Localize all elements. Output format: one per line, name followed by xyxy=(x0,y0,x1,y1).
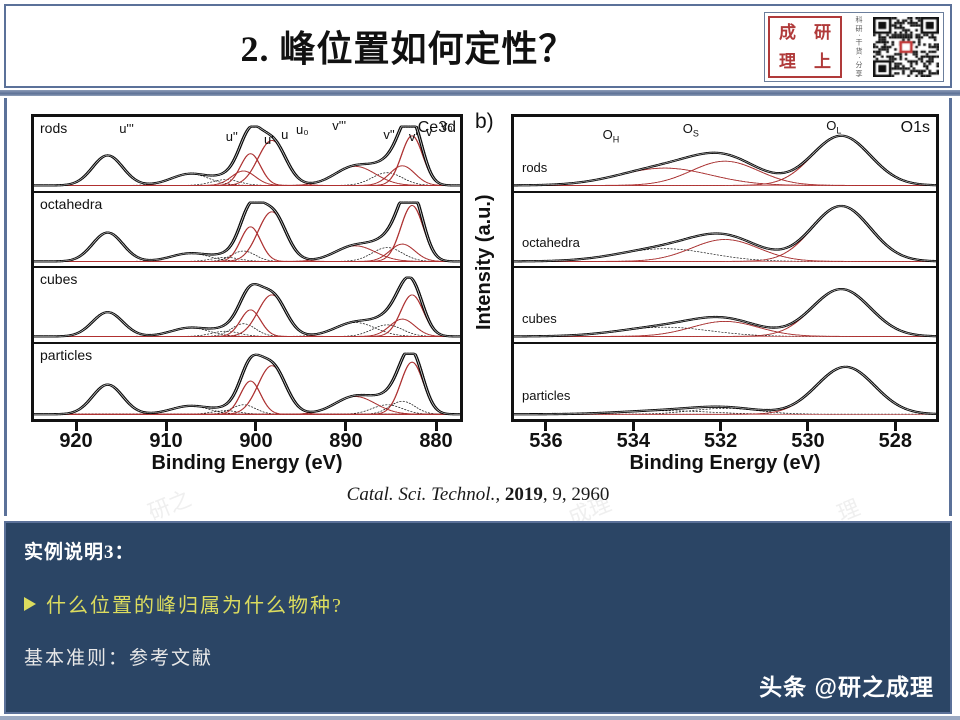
spectrum-subpanel: rodsu'''u''u'uu₀v'''v''v'vv₀ xyxy=(34,117,460,193)
peak-label: OH xyxy=(603,127,620,145)
spectrum-sample-label: octahedra xyxy=(40,196,102,212)
axis-tick-label: 530 xyxy=(791,430,824,453)
seal-char-2: 研 xyxy=(805,18,840,47)
axis-tick-label: 920 xyxy=(59,430,92,453)
notes-bullet-line: 什么位置的峰归属为什么物种? xyxy=(24,589,343,618)
spectrum-component-curve xyxy=(34,244,460,261)
notes-heading: 实例说明3： xyxy=(24,537,135,564)
axis-tick-label: 532 xyxy=(704,430,737,453)
panel-o1s-plotbox: O1s rodsOHOSOLoctahedracubesparticles xyxy=(511,114,939,422)
spectrum-fit-curve xyxy=(34,226,460,261)
spectrum-component-curve xyxy=(514,289,936,336)
panel-o1s-letter: b) xyxy=(475,110,494,134)
footer-strip xyxy=(0,716,960,720)
peak-label: u' xyxy=(264,132,274,147)
panel-ce3d-corner-tag: Ce3d xyxy=(418,119,456,137)
notes-panel: 实例说明3： 什么位置的峰归属为什么物种? 基本准则：参考文献 头条 @研之成理 xyxy=(4,521,952,714)
brand-stamp-qr: 成 研 理 上 科研·干货·分享 xyxy=(764,12,944,82)
panel-ce3d-plotbox: Ce3d rodsu'''u''u'uu₀v'''v''v'vv₀octahed… xyxy=(31,114,463,422)
spectrum-fit-curve xyxy=(514,289,936,336)
axis-tick-label: 890 xyxy=(329,430,362,453)
peak-label: u₀ xyxy=(296,122,309,137)
panel-ce3d-xaxis: 920910900890880 xyxy=(31,422,463,456)
spectrum-sample-label: cubes xyxy=(522,311,557,326)
panel-o1s: b) Intensity (a.u.) O1s rodsOHOSOLoctahe… xyxy=(475,102,939,480)
panel-o1s-xaxis: 536534532530528 xyxy=(511,422,939,456)
brand-side-text: 科研·干货·分享 xyxy=(845,13,873,81)
axis-tick-label: 900 xyxy=(239,430,272,453)
peak-label: u''' xyxy=(119,121,134,136)
slide-root: 2. 峰位置如何定性？ 成 研 理 上 科研·干货·分享 研之 成理 理 Ce3… xyxy=(0,0,960,720)
peak-label: v''' xyxy=(332,118,346,133)
spectrum-sample-label: particles xyxy=(40,347,92,363)
notes-subtext: 基本准则：参考文献 xyxy=(24,643,213,670)
citation-year: 2019 xyxy=(505,484,543,505)
axis-tick-label: 880 xyxy=(419,430,452,453)
spectrum-subpanel: octahedra xyxy=(514,193,936,269)
peak-label: v'' xyxy=(383,127,394,142)
spectrum-component-curve xyxy=(34,404,460,413)
spectrum-subpanel: rodsOHOSOL xyxy=(514,117,936,193)
citation-rest: , 9, 2960 xyxy=(543,484,610,505)
spectrum-data-points xyxy=(514,366,936,413)
panel-o1s-ytitle: Intensity (a.u.) xyxy=(473,142,496,382)
peak-label: OS xyxy=(683,121,699,139)
spectrum-subpanel: cubes xyxy=(514,268,936,344)
panel-ce3d: Ce3d rodsu'''u''u'uu₀v'''v''v'vv₀octahed… xyxy=(23,102,463,480)
spectrum-subpanel: cubes xyxy=(34,268,460,344)
figure-citation: Catal. Sci. Technol., 2019, 9, 2960 xyxy=(7,484,949,506)
citation-journal: Catal. Sci. Technol., xyxy=(347,484,500,505)
notes-bullet-text: 什么位置的峰归属为什么物种? xyxy=(46,589,343,618)
spectrum-component-curve xyxy=(34,226,460,261)
spectrum-subpanel: particles xyxy=(34,344,460,420)
peak-label: OL xyxy=(826,118,841,136)
axis-tick-label: 910 xyxy=(149,430,182,453)
spectrum-component-curve xyxy=(34,331,460,336)
seal-icon: 成 研 理 上 xyxy=(768,16,842,78)
spectrum-sample-label: particles xyxy=(522,388,570,403)
spectrum-sample-label: cubes xyxy=(40,271,77,287)
spectrum-component-curve xyxy=(34,405,460,413)
spectrum-sample-label: rods xyxy=(522,160,547,175)
spectrum-fit-curve xyxy=(34,244,460,261)
peak-label: v' xyxy=(409,129,418,144)
qr-code-icon[interactable] xyxy=(873,17,939,77)
channel-watermark: 头条 @研之成理 xyxy=(759,668,934,702)
axis-tick-label: 536 xyxy=(529,430,562,453)
spectrum-subpanel: particles xyxy=(514,344,936,420)
spectrum-sample-label: rods xyxy=(40,120,67,136)
spectrum-component-curve xyxy=(34,253,460,261)
spectrum-component-curve xyxy=(34,410,460,414)
peak-label: u xyxy=(281,127,288,142)
spectrum-component-curve xyxy=(34,310,460,337)
seal-char-4: 上 xyxy=(805,47,840,76)
arrow-bullet-icon xyxy=(24,597,36,611)
panel-o1s-corner-tag: O1s xyxy=(901,119,930,137)
slide-header: 2. 峰位置如何定性？ 成 研 理 上 科研·干货·分享 xyxy=(4,4,952,88)
spectrum-data-points xyxy=(514,205,936,260)
seal-char-3: 理 xyxy=(770,47,805,76)
header-divider-bar xyxy=(0,90,960,96)
seal-char-1: 成 xyxy=(770,18,805,47)
spectrum-sample-label: octahedra xyxy=(522,235,580,250)
figure-region: 研之 成理 理 Ce3d rodsu'''u''u'uu₀v'''v''v'vv… xyxy=(4,98,952,516)
spectrum-component-curve xyxy=(34,381,460,414)
axis-tick-label: 528 xyxy=(879,430,912,453)
panel-o1s-xtitle: Binding Energy (eV) xyxy=(511,452,939,475)
spectrum-data-points xyxy=(514,289,936,336)
axis-tick-label: 534 xyxy=(617,430,650,453)
panel-ce3d-xtitle: Binding Energy (eV) xyxy=(31,452,463,475)
spectrum-fit-curve xyxy=(34,245,460,261)
peak-label: u'' xyxy=(226,129,238,144)
spectrum-envelope xyxy=(514,289,936,336)
spectrum-fit-curve xyxy=(34,381,460,414)
spectrum-fit-curve xyxy=(34,310,460,337)
spectrum-subpanel: octahedra xyxy=(34,193,460,269)
spectrum-component-curve xyxy=(34,180,460,186)
figure-inner: Ce3d rodsu'''u''u'uu₀v'''v''v'vv₀octahed… xyxy=(23,102,939,480)
